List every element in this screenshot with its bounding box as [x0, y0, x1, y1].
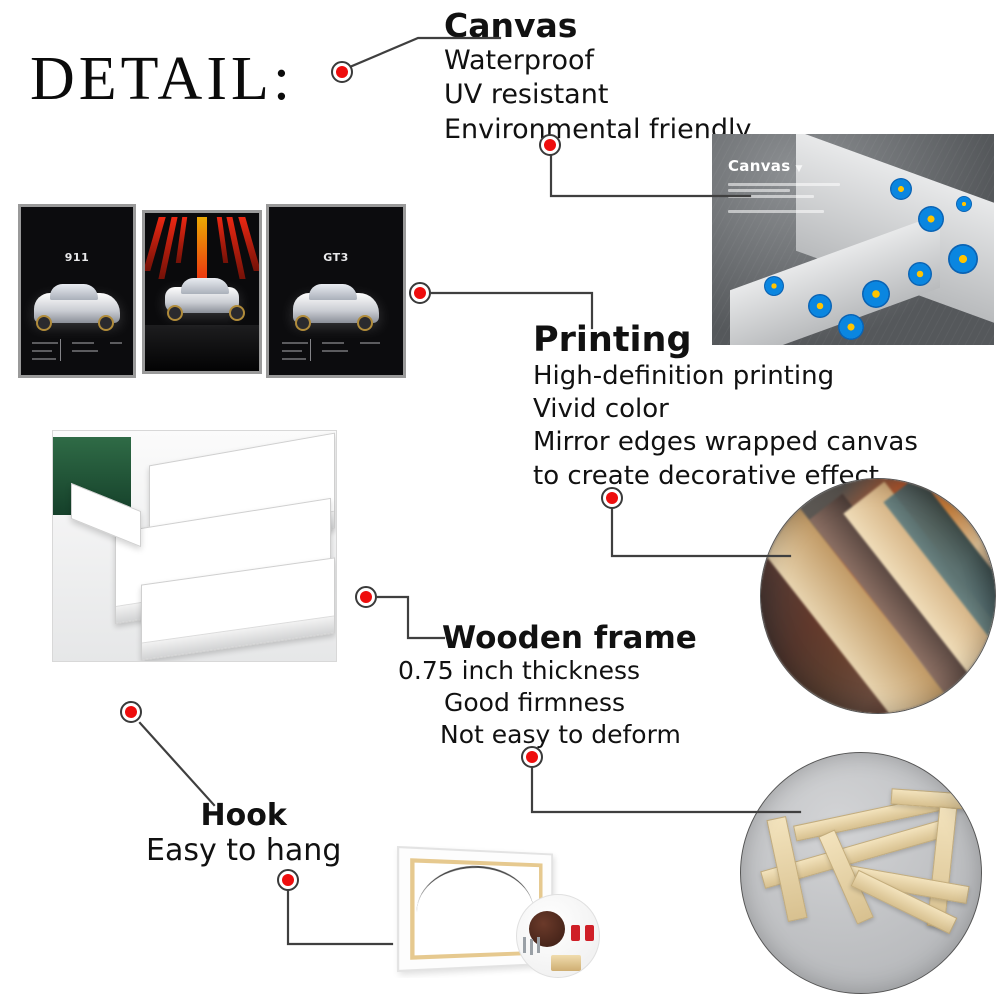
infographic-canvas: DETAIL: Canvas Waterproof: [0, 0, 1000, 1000]
connector-lines: [0, 0, 1000, 1000]
marker-printing[interactable]: [409, 282, 431, 304]
marker-hook-photo[interactable]: [277, 869, 299, 891]
marker-hook[interactable]: [120, 701, 142, 723]
marker-wooden-frame[interactable]: [355, 586, 377, 608]
marker-frame-photo[interactable]: [521, 746, 543, 768]
marker-mirror-edge[interactable]: [601, 487, 623, 509]
marker-canvas[interactable]: [331, 61, 353, 83]
marker-canvas-photo[interactable]: [539, 134, 561, 156]
